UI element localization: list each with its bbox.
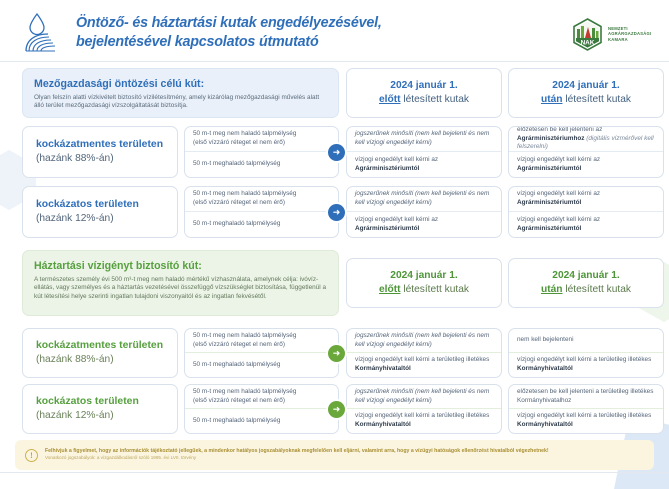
column-header-after-household: 2024 január 1. után létesített kutak	[508, 258, 664, 308]
column-header-after-agri: 2024 január 1. után létesített kutak	[508, 68, 664, 118]
column-header-before-household-label: előtt létesített kutak	[379, 283, 469, 297]
column-header-after-agri-date: 2024 január 1.	[552, 79, 619, 93]
answers-agri-risky-before: jogszerűnek minősíti (nem kell bejelenti…	[346, 186, 502, 238]
depth-deep-main: 50 m-t meghaladó talpmélység	[193, 220, 330, 229]
infographic-page: Öntöző- és háztartási kutak engedélyezés…	[0, 0, 669, 477]
category-agri-riskfree-label: kockázatmentes területen	[36, 138, 177, 152]
category-household-riskfree-label: kockázatmentes területen	[36, 339, 177, 353]
nak-logo-text: NEMZETI AGRÁRGAZDASÁGI KAMARA	[608, 26, 651, 42]
category-agri-risky: kockázatos területen (hazánk 12%-án)	[22, 186, 178, 238]
answer-cell: jogszerűnek minősíti (nem kell bejelenti…	[347, 329, 501, 353]
answer-text: jogszerűnek minősíti (nem kell bejelenti…	[355, 388, 493, 405]
answer-text: jogszerűnek minősíti (nem kell bejelenti…	[355, 190, 493, 207]
answer-cell: jogszerűnek minősíti (nem kell bejelenti…	[347, 385, 501, 409]
depth-cell-shallow: 50 m-t meg nem haladó talpmélység (első …	[185, 127, 338, 152]
answer-cell: vízjogi engedélyt kell kérni a területil…	[509, 409, 663, 433]
answer-text: nem kell bejelenteni	[517, 336, 655, 345]
answer-cell: jogszerűnek minősíti (nem kell bejelenti…	[347, 187, 501, 212]
depth-shallow-main: 50 m-t meg nem haladó talpmélység	[193, 190, 330, 199]
depth-deep-main: 50 m-t meghaladó talpmélység	[193, 417, 330, 426]
answer-cell: jogszerűnek minősíti (nem kell bejelenti…	[347, 127, 501, 152]
column-header-after-household-date: 2024 január 1.	[552, 269, 619, 283]
footer-divider	[0, 472, 669, 473]
answers-household-risky-before: jogszerűnek minősíti (nem kell bejelenti…	[346, 384, 502, 434]
category-household-risky-share: (hazánk 12%-án)	[36, 409, 177, 423]
section-agricultural-description: Olyan felszín alatti vízkivételt biztosí…	[34, 94, 327, 111]
answer-text: vízjogi engedélyt kell kérni az Agrármin…	[355, 216, 493, 233]
depth-household-risky: 50 m-t meg nem haladó talpmélység (első …	[184, 384, 339, 434]
row-arrow-icon: ➜	[328, 204, 345, 221]
row-arrow-icon: ➜	[328, 144, 345, 161]
category-agri-risky-share: (hazánk 12%-án)	[36, 212, 177, 226]
answer-cell: nem kell bejelenteni	[509, 329, 663, 353]
nak-logo: NAK NEMZETI AGRÁRGAZDASÁGI KAMARA	[572, 18, 664, 50]
row-arrow-icon: ➜	[328, 345, 345, 362]
depth-cell-shallow: 50 m-t meg nem haladó talpmélység (első …	[185, 329, 338, 353]
answers-household-risky-after: előzetesen be kell jelenteni a területil…	[508, 384, 664, 434]
category-agri-riskfree-share: (hazánk 88%-án)	[36, 152, 177, 166]
depth-shallow-main: 50 m-t meg nem haladó talpmélység	[193, 332, 330, 341]
answer-cell: vízjogi engedélyt kell kérni az Agrármin…	[347, 152, 501, 177]
depth-shallow-main: 50 m-t meg nem haladó talpmélység	[193, 388, 330, 397]
category-agri-risky-label: kockázatos területen	[36, 198, 177, 212]
answer-text: előzetesen be kell jelenteni az Agrármin…	[517, 126, 655, 152]
answers-agri-riskfree-after: előzetesen be kell jelenteni az Agrármin…	[508, 126, 664, 178]
answers-agri-risky-after: vízjogi engedélyt kell kérni az Agrármin…	[508, 186, 664, 238]
category-agri-riskfree: kockázatmentes területen (hazánk 88%-án)	[22, 126, 178, 178]
answer-text: jogszerűnek minősíti (nem kell bejelenti…	[355, 332, 493, 349]
footer-line2: Vonatkozó jogszabályok: a vízgazdálkodás…	[45, 455, 549, 462]
answer-cell: előzetesen be kell jelenteni a területil…	[509, 385, 663, 409]
answer-cell: vízjogi engedélyt kell kérni az Agrármin…	[509, 152, 663, 177]
depth-cell-deep: 50 m-t meghaladó talpmélység	[185, 409, 338, 433]
section-household-intro: Háztartási vízigényt biztosító kút: A te…	[22, 250, 339, 316]
depth-shallow-note: (első vízzáró réteget el nem érő)	[193, 397, 330, 406]
answer-text: vízjogi engedélyt kell kérni a területil…	[355, 356, 493, 373]
footer-disclaimer: ! Felhívjuk a figyelmet, hogy az informá…	[15, 440, 654, 470]
column-header-after-household-label: után létesített kutak	[541, 283, 631, 297]
category-household-riskfree: kockázatmentes területen (hazánk 88%-án)	[22, 328, 178, 378]
nak-badge-icon: NAK	[572, 18, 603, 51]
depth-agri-riskfree: 50 m-t meg nem haladó talpmélység (első …	[184, 126, 339, 178]
answer-cell: vízjogi engedélyt kell kérni az Agrármin…	[347, 212, 501, 237]
footer-line1: Felhívjuk a figyelmet, hogy az informáci…	[45, 448, 549, 455]
section-agricultural-title: Mezőgazdasági öntözési célú kút:	[34, 78, 327, 90]
depth-shallow-main: 50 m-t meg nem haladó talpmélység	[193, 130, 330, 139]
section-agricultural-intro: Mezőgazdasági öntözési célú kút: Olyan f…	[22, 68, 339, 118]
page-header: Öntöző- és háztartási kutak engedélyezés…	[0, 0, 669, 62]
column-header-before-agri-label: előtt létesített kutak	[379, 93, 469, 107]
answer-text: vízjogi engedélyt kell kérni az Agrármin…	[517, 190, 655, 207]
column-header-before-agri: 2024 január 1. előtt létesített kutak	[346, 68, 502, 118]
depth-deep-main: 50 m-t meghaladó talpmélység	[193, 160, 330, 169]
column-header-before-household-date: 2024 január 1.	[390, 269, 457, 283]
category-household-risky: kockázatos területen (hazánk 12%-án)	[22, 384, 178, 434]
depth-household-riskfree: 50 m-t meg nem haladó talpmélység (első …	[184, 328, 339, 378]
category-household-risky-label: kockázatos területen	[36, 395, 177, 409]
water-drop-leaf-icon	[22, 12, 66, 54]
page-title: Öntöző- és háztartási kutak engedélyezés…	[76, 14, 546, 51]
answer-text: jogszerűnek minősíti (nem kell bejelenti…	[355, 130, 493, 147]
column-header-before-agri-date: 2024 január 1.	[390, 79, 457, 93]
nak-text-line2: AGRÁRGAZDASÁGI	[608, 31, 651, 36]
depth-cell-shallow: 50 m-t meg nem haladó talpmélység (első …	[185, 385, 338, 409]
page-title-line2: bejelentésével kapcsolatos útmutató	[76, 34, 318, 50]
category-household-riskfree-share: (hazánk 88%-án)	[36, 353, 177, 367]
depth-shallow-note: (első vízzáró réteget el nem érő)	[193, 199, 330, 208]
footer-text: Felhívjuk a figyelmet, hogy az informáci…	[45, 448, 549, 462]
answer-text: vízjogi engedélyt kell kérni az Agrármin…	[517, 156, 655, 173]
depth-cell-deep: 50 m-t meghaladó talpmélység	[185, 353, 338, 377]
answer-text: vízjogi engedélyt kell kérni a területil…	[517, 356, 655, 373]
depth-cell-shallow: 50 m-t meg nem haladó talpmélység (első …	[185, 187, 338, 212]
answer-cell: vízjogi engedélyt kell kérni a területil…	[347, 353, 501, 377]
answer-text: előzetesen be kell jelenteni a területil…	[517, 388, 655, 405]
column-header-before-household: 2024 január 1. előtt létesített kutak	[346, 258, 502, 308]
answer-text: vízjogi engedélyt kell kérni a területil…	[517, 412, 655, 429]
depth-shallow-note: (első vízzáró réteget el nem érő)	[193, 139, 330, 148]
answer-cell: vízjogi engedélyt kell kérni az Agrármin…	[509, 212, 663, 237]
row-arrow-icon: ➜	[328, 401, 345, 418]
section-household-title: Háztartási vízigényt biztosító kút:	[34, 260, 327, 272]
answers-household-riskfree-before: jogszerűnek minősíti (nem kell bejelenti…	[346, 328, 502, 378]
answer-text: vízjogi engedélyt kell kérni az Agrármin…	[517, 216, 655, 233]
answer-cell: vízjogi engedélyt kell kérni a területil…	[347, 409, 501, 433]
depth-cell-deep: 50 m-t meghaladó talpmélység	[185, 212, 338, 237]
depth-shallow-note: (első vízzáró réteget el nem érő)	[193, 341, 330, 350]
nak-text-line3: KAMARA	[608, 37, 651, 42]
answers-household-riskfree-after: nem kell bejelenteni vízjogi engedélyt k…	[508, 328, 664, 378]
answer-text: vízjogi engedélyt kell kérni a területil…	[355, 412, 493, 429]
answer-cell: vízjogi engedélyt kell kérni a területil…	[509, 353, 663, 377]
depth-cell-deep: 50 m-t meghaladó talpmélység	[185, 152, 338, 177]
header-divider	[0, 61, 669, 62]
answer-cell: előzetesen be kell jelenteni az Agrármin…	[509, 127, 663, 152]
section-household-description: A természetes személy évi 500 m³-t meg n…	[34, 276, 327, 301]
depth-agri-risky: 50 m-t meg nem haladó talpmélység (első …	[184, 186, 339, 238]
answers-agri-riskfree-before: jogszerűnek minősíti (nem kell bejelenti…	[346, 126, 502, 178]
depth-deep-main: 50 m-t meghaladó talpmélység	[193, 361, 330, 370]
svg-text:NAK: NAK	[581, 39, 595, 46]
answer-text: vízjogi engedélyt kell kérni az Agrármin…	[355, 156, 493, 173]
exclamation-circle-icon: !	[25, 449, 38, 462]
page-title-line1: Öntöző- és háztartási kutak engedélyezés…	[76, 15, 382, 31]
column-header-after-agri-label: után létesített kutak	[541, 93, 631, 107]
answer-cell: vízjogi engedélyt kell kérni az Agrármin…	[509, 187, 663, 212]
